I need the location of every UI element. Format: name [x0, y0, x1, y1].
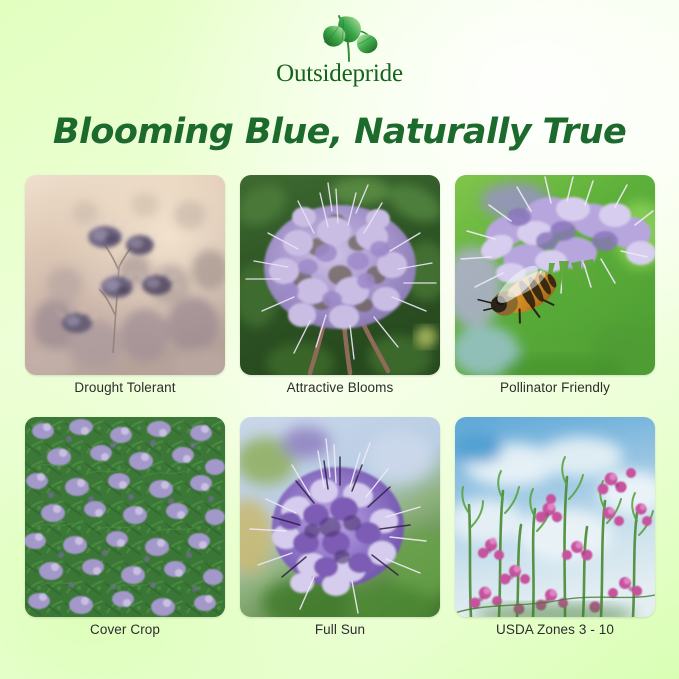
photo-full-sun: [240, 417, 440, 617]
feature-card-cover-crop: Cover Crop: [25, 417, 225, 617]
feature-caption: Pollinator Friendly: [443, 380, 667, 395]
feature-card-pollinator-friendly: Pollinator Friendly: [455, 175, 655, 375]
brand-logo: Outsidepride: [0, 14, 679, 88]
feature-card-full-sun: Full Sun: [240, 417, 440, 617]
feature-caption: USDA Zones 3 - 10: [443, 622, 667, 637]
feature-grid: Drought Tolerant: [25, 175, 655, 617]
feature-caption: Attractive Blooms: [228, 380, 452, 395]
photo-usda-zones: [455, 417, 655, 617]
feature-card-drought-tolerant: Drought Tolerant: [25, 175, 225, 375]
page-title: Blooming Blue, Naturally True: [0, 112, 679, 152]
feature-caption: Drought Tolerant: [13, 380, 237, 395]
brand-name: Outsidepride: [276, 60, 403, 88]
infographic-card: Outsidepride Blooming Blue, Naturally Tr…: [0, 0, 679, 679]
photo-drought-tolerant: [25, 175, 225, 375]
photo-attractive-blooms: [240, 175, 440, 375]
feature-caption: Cover Crop: [13, 622, 237, 637]
feature-card-usda-zones: USDA Zones 3 - 10: [455, 417, 655, 617]
feature-card-attractive-blooms: Attractive Blooms: [240, 175, 440, 375]
feature-caption: Full Sun: [228, 622, 452, 637]
photo-pollinator-friendly: [455, 175, 655, 375]
photo-cover-crop: [25, 417, 225, 617]
leaf-sprig-icon: [294, 14, 386, 64]
